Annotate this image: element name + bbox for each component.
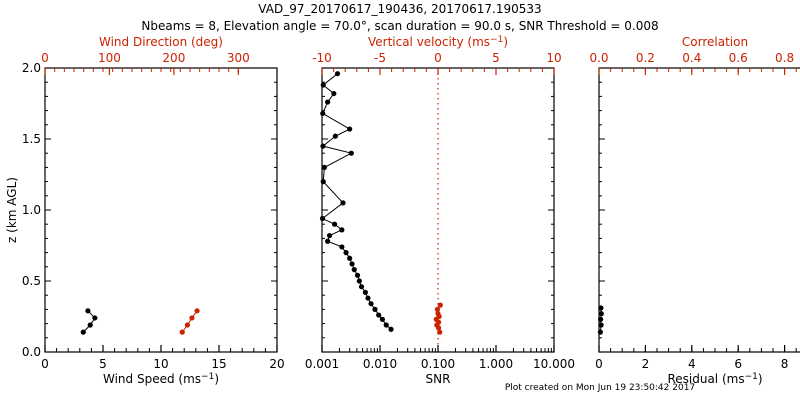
top-tick-label: 200	[162, 51, 185, 65]
top-tick-label: -5	[374, 51, 386, 65]
data-point-vertical-velocity	[435, 307, 440, 312]
bottom-tick-label: 0	[595, 357, 603, 371]
data-point-snr	[322, 165, 327, 170]
top-axis-label: Vertical velocity (ms−1)	[368, 35, 508, 49]
top-tick-label: 0.0	[589, 51, 608, 65]
y-tick-label: 0.5	[22, 274, 41, 288]
data-point-vertical-velocity	[438, 303, 443, 308]
data-point-snr	[363, 290, 368, 295]
series-line-wind-speed	[83, 311, 95, 332]
data-point-wind-speed	[85, 308, 90, 313]
data-point-wind-speed	[92, 315, 97, 320]
top-tick-label: 100	[98, 51, 121, 65]
bottom-tick-label: 10.000	[533, 357, 575, 371]
data-point-wind-speed	[88, 322, 93, 327]
data-point-residual	[598, 305, 603, 310]
panel-frame	[45, 68, 277, 352]
top-tick-label: 0.8	[775, 51, 794, 65]
top-tick-label: -10	[312, 51, 332, 65]
data-point-snr	[349, 261, 354, 266]
data-point-snr	[376, 312, 381, 317]
data-point-wind-direction	[194, 308, 199, 313]
data-point-snr	[339, 244, 344, 249]
bottom-tick-label: 0.001	[305, 357, 339, 371]
data-point-snr	[327, 233, 332, 238]
bottom-tick-label: 0	[41, 357, 49, 371]
y-tick-label: 1.5	[22, 132, 41, 146]
bottom-tick-label: 4	[688, 357, 696, 371]
series-line-wind-direction	[182, 311, 197, 332]
plot-canvas: z (km AGL)0.00.51.01.52.00100200300Wind …	[0, 0, 800, 400]
y-axis-label: z (km AGL)	[5, 177, 19, 243]
data-point-snr	[325, 99, 330, 104]
data-point-residual	[598, 330, 603, 335]
y-tick-label: 2.0	[22, 61, 41, 75]
top-tick-label: 0.6	[729, 51, 748, 65]
data-point-snr	[388, 327, 393, 332]
data-point-residual	[599, 311, 604, 316]
top-tick-label: 5	[492, 51, 500, 65]
y-tick-label: 1.0	[22, 203, 41, 217]
top-tick-label: 0.4	[682, 51, 701, 65]
bottom-tick-label: 1.000	[479, 357, 513, 371]
data-point-wind-direction	[180, 330, 185, 335]
data-point-snr	[380, 317, 385, 322]
bottom-tick-label: 20	[269, 357, 284, 371]
data-point-wind-speed	[81, 330, 86, 335]
bottom-tick-label: 2	[642, 357, 650, 371]
data-point-snr	[349, 151, 354, 156]
top-tick-label: 0.2	[636, 51, 655, 65]
data-point-wind-direction	[189, 315, 194, 320]
bottom-tick-label: 15	[211, 357, 226, 371]
bottom-tick-label: 6	[734, 357, 742, 371]
data-point-snr	[347, 126, 352, 131]
data-point-residual	[598, 317, 603, 322]
top-axis-label: Wind Direction (deg)	[99, 35, 223, 49]
data-point-snr	[347, 256, 352, 261]
top-tick-label: 0	[434, 51, 442, 65]
data-point-snr	[325, 239, 330, 244]
top-axis-label: Correlation	[682, 35, 748, 49]
data-point-wind-direction	[185, 322, 190, 327]
data-point-snr	[321, 179, 326, 184]
bottom-tick-label: 0.100	[421, 357, 455, 371]
data-point-snr	[333, 134, 338, 139]
data-point-residual	[598, 322, 603, 327]
data-point-snr	[339, 227, 344, 232]
bottom-tick-label: 8	[781, 357, 789, 371]
data-point-snr	[365, 295, 370, 300]
data-point-snr	[343, 250, 348, 255]
data-point-snr	[359, 284, 364, 289]
series-line-snr	[323, 74, 392, 330]
data-point-snr	[332, 222, 337, 227]
data-point-snr	[384, 322, 389, 327]
top-tick-label: 10	[546, 51, 561, 65]
data-point-snr	[368, 301, 373, 306]
data-point-snr	[340, 200, 345, 205]
bottom-axis-label: Wind Speed (ms−1)	[103, 372, 219, 386]
top-tick-label: 300	[227, 51, 250, 65]
y-tick-label: 0.0	[22, 345, 41, 359]
data-point-snr	[320, 144, 325, 149]
bottom-tick-label: 10	[153, 357, 168, 371]
data-point-snr	[352, 267, 357, 272]
data-point-snr	[331, 91, 336, 96]
data-point-snr	[355, 273, 360, 278]
top-tick-label: 0	[41, 51, 49, 65]
bottom-tick-label: 0.010	[363, 357, 397, 371]
panel-frame	[599, 68, 800, 352]
data-point-snr	[357, 278, 362, 283]
bottom-tick-label: 5	[99, 357, 107, 371]
data-point-snr	[321, 82, 326, 87]
data-point-snr	[372, 307, 377, 312]
plot-timestamp: Plot created on Mon Jun 19 23:50:42 2017	[400, 383, 800, 393]
vad-plot-figure: VAD_97_20170617_190436, 20170617.190533 …	[0, 0, 800, 400]
data-point-snr	[320, 216, 325, 221]
data-point-snr	[335, 71, 340, 76]
data-point-snr	[320, 111, 325, 116]
